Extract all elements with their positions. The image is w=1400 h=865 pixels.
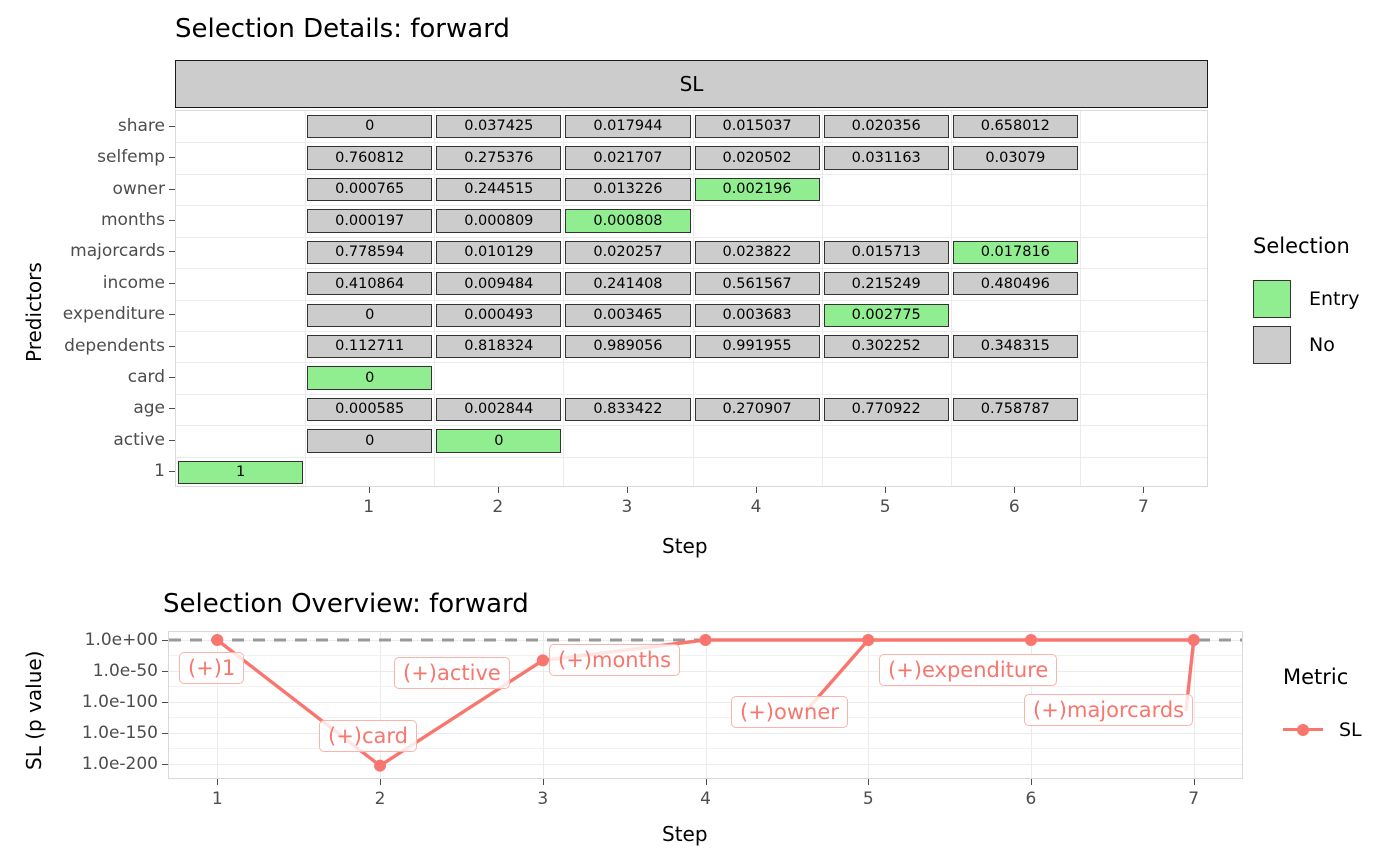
selection-tile[interactable]: 0.020356: [824, 115, 949, 138]
series-point-sl[interactable]: [1025, 634, 1037, 646]
gridline-horizontal: [176, 362, 1207, 363]
selection-tile[interactable]: 0.000493: [436, 304, 561, 327]
legend-key-line-sl: [1283, 721, 1323, 739]
panel2-y-axis-title: SL (p value): [22, 651, 46, 770]
selection-tile[interactable]: 0.002844: [436, 398, 561, 421]
selection-tile[interactable]: 0.017816: [953, 241, 1078, 264]
selection-tile[interactable]: 0.009484: [436, 272, 561, 295]
x-tick-label-1: 1: [363, 497, 374, 517]
selection-tile[interactable]: 0.758787: [953, 398, 1078, 421]
annotation-majorcards: (+)majorcards: [1024, 694, 1193, 726]
x-tick-label-6: 6: [1009, 497, 1020, 517]
selection-tile[interactable]: 0.000585: [307, 398, 432, 421]
selection-tile[interactable]: 0.270907: [695, 398, 820, 421]
selection-tile[interactable]: 1: [178, 461, 303, 484]
selection-tile[interactable]: 0.561567: [695, 272, 820, 295]
x-tick-label-2: 2: [375, 789, 386, 809]
panel1-plot-area: 00.0374250.0179440.0150370.0203560.65801…: [175, 110, 1208, 487]
gridline-horizontal: [176, 237, 1207, 238]
selection-tile[interactable]: 0.000197: [307, 209, 432, 232]
y-tick-label-1.0e-50: 1.0e-50: [93, 661, 158, 681]
selection-tile[interactable]: 0.020502: [695, 146, 820, 169]
legend-swatch-no: [1253, 326, 1291, 364]
y-tick-label-selfemp: selfemp: [97, 147, 165, 167]
y-tick-label-1.0e-200: 1.0e-200: [82, 754, 158, 774]
gridline-horizontal: [176, 300, 1207, 301]
selection-tile[interactable]: 0.991955: [695, 335, 820, 358]
x-tick-label-4: 4: [700, 789, 711, 809]
selection-tile[interactable]: 0.015713: [824, 241, 949, 264]
facet-strip-label: SL: [680, 72, 704, 96]
selection-tile[interactable]: 0.770922: [824, 398, 949, 421]
facet-strip-sl: SL: [175, 60, 1208, 108]
metric-legend-item[interactable]: SL: [1283, 713, 1362, 747]
annotation-expenditure: (+)expenditure: [879, 654, 1057, 686]
series-point-sl[interactable]: [374, 760, 386, 772]
selection-tile[interactable]: 0.410864: [307, 272, 432, 295]
selection-tile[interactable]: 0.031163: [824, 146, 949, 169]
x-tick-label-1: 1: [212, 789, 223, 809]
x-tick-label-3: 3: [622, 497, 633, 517]
selection-tile[interactable]: 0.275376: [436, 146, 561, 169]
x-tick-label-7: 7: [1138, 497, 1149, 517]
selection-legend-title: Selection: [1253, 234, 1350, 258]
selection-tile[interactable]: 0: [307, 304, 432, 327]
annotation-: (+)1: [179, 652, 244, 684]
selection-tile[interactable]: 0.002775: [824, 304, 949, 327]
x-tick-label-6: 6: [1026, 789, 1037, 809]
selection-tile[interactable]: 0.778594: [307, 241, 432, 264]
gridline-horizontal: [176, 425, 1207, 426]
gridline-horizontal: [176, 457, 1207, 458]
x-tick-mark: [498, 487, 499, 493]
selection-tile[interactable]: 0.003465: [565, 304, 690, 327]
y-tick-label-1.0e-100: 1.0e-100: [82, 692, 158, 712]
selection-tile[interactable]: 0.000809: [436, 209, 561, 232]
selection-legend-item[interactable]: No: [1253, 322, 1360, 368]
plot-canvas: Selection Details: forward SL Predictors…: [0, 0, 1400, 865]
gridline-horizontal: [176, 394, 1207, 395]
annotation-active: (+)active: [394, 657, 510, 689]
x-tick-label-5: 5: [880, 497, 891, 517]
y-tick-label-1.0e-150: 1.0e-150: [82, 723, 158, 743]
metric-legend: SL: [1283, 713, 1362, 747]
x-tick-label-7: 7: [1188, 789, 1199, 809]
y-tick-label-share: share: [118, 116, 165, 136]
x-tick-mark: [543, 779, 544, 785]
x-tick-mark: [706, 779, 707, 785]
legend-label-entry: Entry: [1309, 288, 1360, 310]
selection-legend-item[interactable]: Entry: [1253, 276, 1360, 322]
selection-tile[interactable]: 0.015037: [695, 115, 820, 138]
x-tick-mark: [885, 487, 886, 493]
y-tick-label-majorcards: majorcards: [70, 241, 165, 261]
legend-label-no: No: [1309, 334, 1335, 356]
gridline-horizontal: [176, 268, 1207, 269]
selection-tile[interactable]: 0.818324: [436, 335, 561, 358]
gridline-horizontal: [176, 142, 1207, 143]
selection-tile[interactable]: 0: [436, 429, 561, 452]
selection-tile[interactable]: 0: [307, 366, 432, 389]
y-tick-label-owner: owner: [112, 179, 165, 199]
selection-tile[interactable]: 0.833422: [565, 398, 690, 421]
selection-tile[interactable]: 0.760812: [307, 146, 432, 169]
gridline-vertical: [951, 111, 952, 486]
selection-tile[interactable]: 0.658012: [953, 115, 1078, 138]
panel1-x-axis-title: Step: [662, 534, 708, 558]
selection-tile[interactable]: 0.013226: [565, 178, 690, 201]
panel2-x-axis-title: Step: [662, 822, 708, 846]
annotation-card: (+)card: [319, 720, 417, 752]
selection-tile[interactable]: 0.302252: [824, 335, 949, 358]
x-tick-mark: [627, 487, 628, 493]
x-tick-mark: [1194, 779, 1195, 785]
gridline-horizontal: [176, 331, 1207, 332]
panel1-y-axis-title: Predictors: [22, 262, 46, 362]
series-point-sl[interactable]: [537, 654, 549, 666]
selection-tile[interactable]: 0.348315: [953, 335, 1078, 358]
selection-tile[interactable]: 0.215249: [824, 272, 949, 295]
y-tick-label-dependents: dependents: [64, 336, 165, 356]
legend-label-sl: SL: [1339, 719, 1362, 741]
y-tick-label-1.0e+00: 1.0e+00: [85, 630, 158, 650]
panel2-plot-area: (+)1(+)card(+)active(+)months(+)owner(+)…: [168, 631, 1243, 779]
annotation-owner: (+)owner: [731, 696, 848, 728]
panel1-title: Selection Details: forward: [175, 14, 510, 44]
gridline-vertical: [1080, 111, 1081, 486]
x-tick-mark: [1143, 487, 1144, 493]
selection-tile[interactable]: 0.000808: [565, 209, 690, 232]
gridline-horizontal: [176, 174, 1207, 175]
selection-tile[interactable]: 0.244515: [436, 178, 561, 201]
selection-legend: EntryNo: [1253, 276, 1360, 368]
series-point-sl[interactable]: [700, 634, 712, 646]
series-point-sl[interactable]: [211, 634, 223, 646]
x-tick-mark: [756, 487, 757, 493]
x-tick-mark: [1014, 487, 1015, 493]
gridline-vertical: [822, 111, 823, 486]
selection-tile[interactable]: 0.03079: [953, 146, 1078, 169]
gridline-horizontal: [176, 205, 1207, 206]
x-tick-label-3: 3: [537, 789, 548, 809]
y-tick-label-1: 1: [154, 461, 165, 481]
annotation-months: (+)months: [549, 644, 680, 676]
selection-tile[interactable]: 0.021707: [565, 146, 690, 169]
selection-tile[interactable]: 0.010129: [436, 241, 561, 264]
selection-tile[interactable]: 0: [307, 429, 432, 452]
y-tick-label-income: income: [103, 273, 165, 293]
gridline-vertical: [563, 111, 564, 486]
selection-tile[interactable]: 0.003683: [695, 304, 820, 327]
y-tick-label-months: months: [101, 210, 165, 230]
selection-tile[interactable]: 0.000765: [307, 178, 432, 201]
x-tick-mark: [380, 779, 381, 785]
selection-tile[interactable]: 0.017944: [565, 115, 690, 138]
selection-tile[interactable]: 0.989056: [565, 335, 690, 358]
selection-tile[interactable]: 0.020257: [565, 241, 690, 264]
panel2-title: Selection Overview: forward: [163, 589, 529, 619]
selection-tile[interactable]: 0.023822: [695, 241, 820, 264]
selection-tile[interactable]: 0: [307, 115, 432, 138]
x-tick-label-5: 5: [863, 789, 874, 809]
selection-tile[interactable]: 0.002196: [695, 178, 820, 201]
selection-tile[interactable]: 0.112711: [307, 335, 432, 358]
x-tick-label-2: 2: [492, 497, 503, 517]
gridline-vertical: [305, 111, 306, 486]
x-tick-mark: [217, 779, 218, 785]
y-tick-label-age: age: [133, 398, 165, 418]
selection-tile[interactable]: 0.037425: [436, 115, 561, 138]
gridline-vertical: [693, 111, 694, 486]
legend-swatch-entry: [1253, 280, 1291, 318]
y-tick-label-card: card: [128, 367, 165, 387]
y-tick-label-expenditure: expenditure: [63, 304, 165, 324]
y-tick-label-active: active: [113, 430, 165, 450]
x-tick-mark: [1031, 779, 1032, 785]
x-tick-mark: [369, 487, 370, 493]
selection-tile[interactable]: 0.241408: [565, 272, 690, 295]
gridline-vertical: [434, 111, 435, 486]
selection-tile[interactable]: 0.480496: [953, 272, 1078, 295]
x-tick-label-4: 4: [751, 497, 762, 517]
x-tick-mark: [868, 779, 869, 785]
metric-legend-title: Metric: [1283, 665, 1348, 689]
